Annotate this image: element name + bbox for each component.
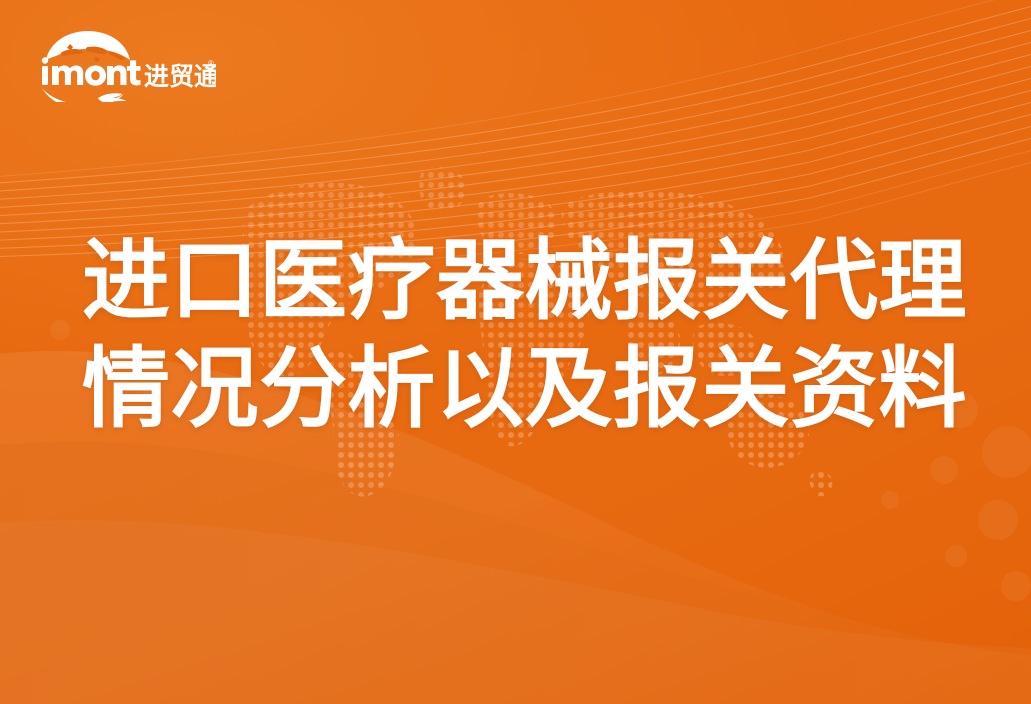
swoosh-bird-icon: [42, 88, 126, 102]
headline-line-2: 情况分析以及报关资料: [82, 342, 972, 436]
hero-banner: 进贸通 ® 进口医疗器械报关代理 情况分析以及报关资料: [0, 0, 1031, 704]
globe-arc-icon: [46, 31, 130, 62]
brand-logo[interactable]: 进贸通 ®: [36, 30, 216, 102]
logo-chinese-name: 进贸通: [144, 62, 216, 91]
trademark-symbol: ®: [208, 59, 214, 68]
page-title: 进口医疗器械报关代理 情况分析以及报关资料: [82, 234, 972, 436]
wordmark-imton: [42, 57, 141, 85]
headline-line-1: 进口医疗器械报关代理: [82, 234, 972, 328]
